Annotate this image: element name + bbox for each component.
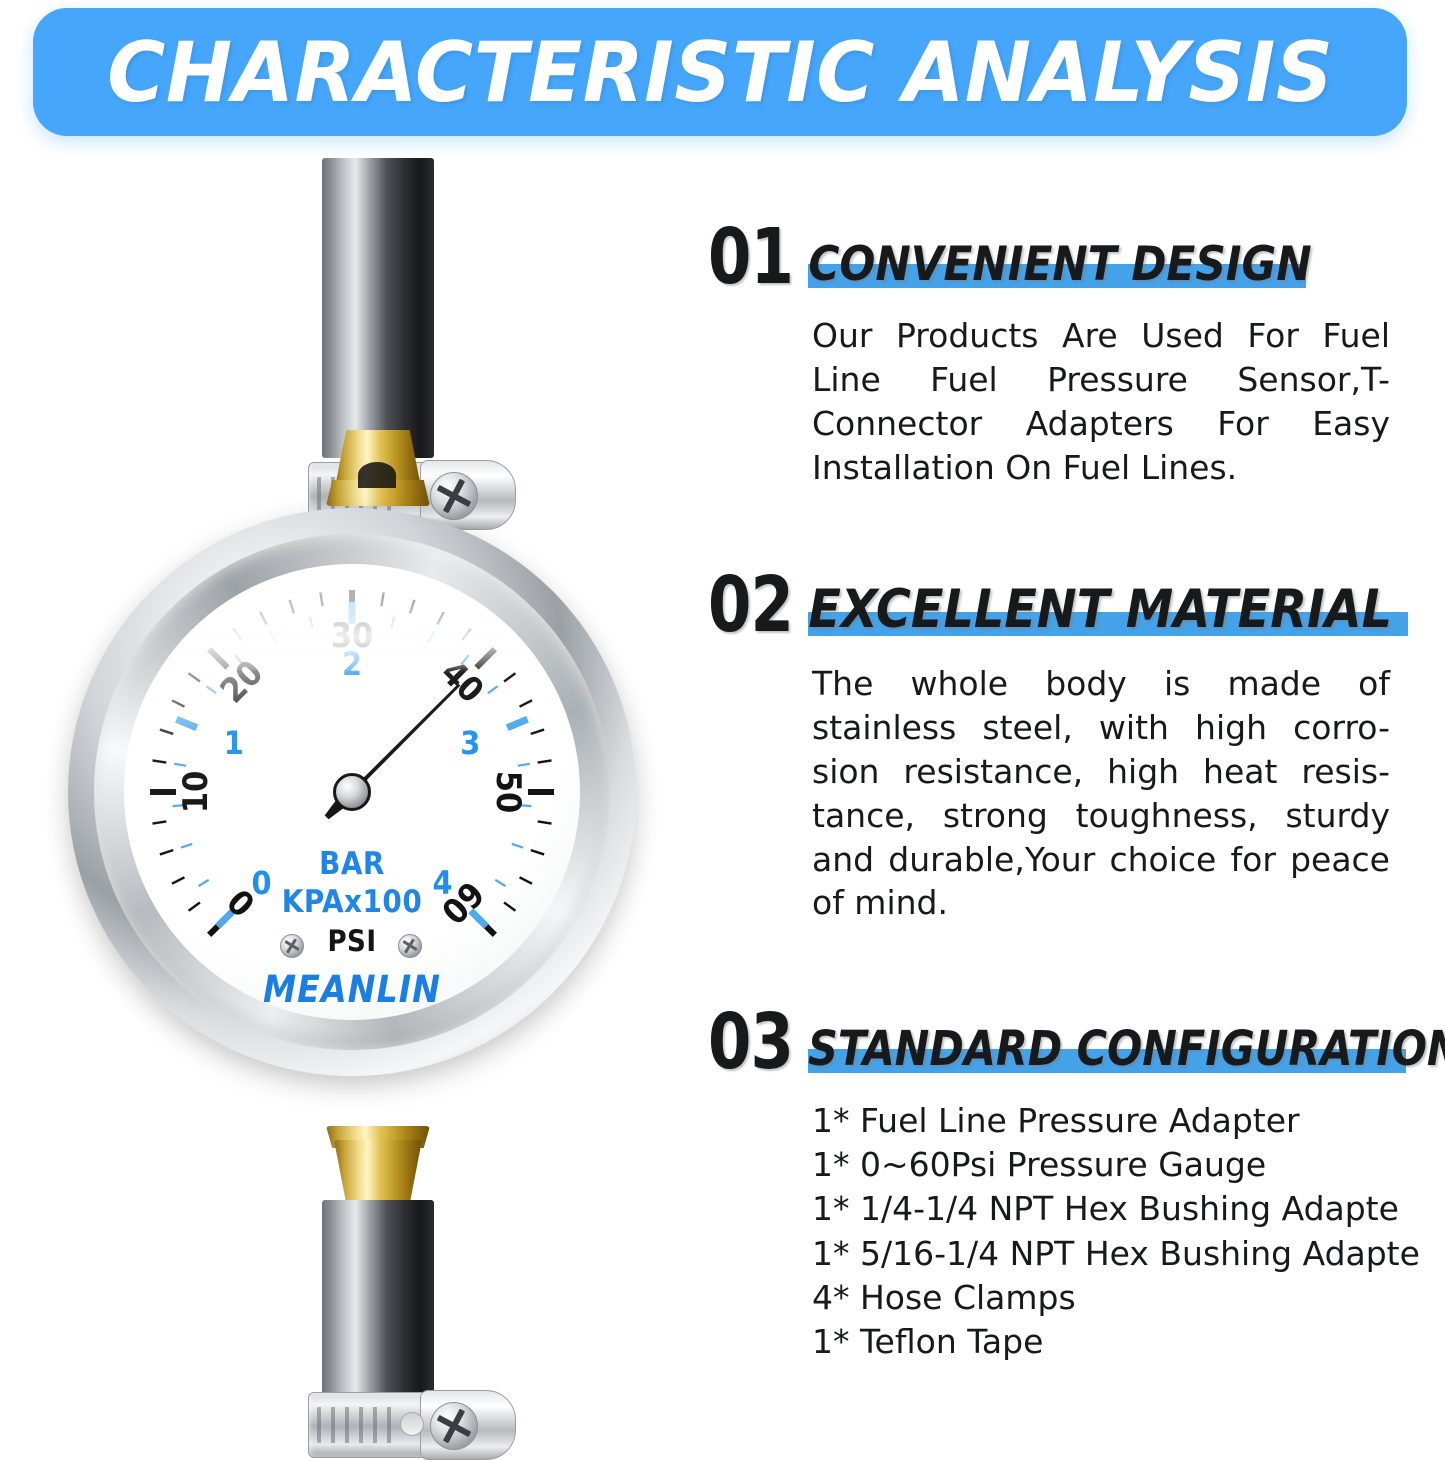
clamp-slots xyxy=(317,1407,395,1443)
gauge-hub xyxy=(333,773,371,811)
brass-fitting-bottom xyxy=(334,1140,422,1204)
gauge-brand-label: MEANLIN xyxy=(124,968,580,1011)
gauge-dial: 010203040506001234 BAR KPAx100 PSI MEANL… xyxy=(124,564,580,1020)
section-number: 03 xyxy=(708,1008,793,1079)
feature-section-02: 02 EXCELLENT MATERIAL The whole body is … xyxy=(708,558,1438,925)
dial-screw-left-icon xyxy=(280,934,304,958)
header-banner: CHARACTERISTIC ANALYSIS xyxy=(33,8,1407,136)
list-item: 1* Teflon Tape xyxy=(812,1320,1443,1364)
feature-section-03: 03 STANDARD CONFIGURATION 1* Fuel Line P… xyxy=(708,995,1443,1364)
section-header: 03 STANDARD CONFIGURATION xyxy=(708,995,1443,1079)
clamp-screw-icon xyxy=(430,1402,478,1450)
product-illustration: 010203040506001234 BAR KPAx100 PSI MEANL… xyxy=(0,140,700,1445)
gauge-unit-psi: PSI xyxy=(124,924,580,958)
section-body-text: The whole body is made of stainless stee… xyxy=(812,662,1390,925)
section-header: 01 CONVENIENT DESIGN xyxy=(708,210,1420,294)
feature-section-01: 01 CONVENIENT DESIGN Our Products Are Us… xyxy=(708,210,1420,490)
gauge-unit-kpa: KPAx100 xyxy=(124,884,580,920)
dial-screw-right-icon xyxy=(398,934,422,958)
configuration-list: 1* Fuel Line Pressure Adapter1* 0~60Psi … xyxy=(812,1099,1443,1364)
list-item: 4* Hose Clamps xyxy=(812,1276,1443,1320)
fuel-hose-top xyxy=(322,158,434,458)
list-item: 1* 0~60Psi Pressure Gauge xyxy=(812,1143,1443,1187)
pressure-gauge: 010203040506001234 BAR KPAx100 PSI MEANL… xyxy=(68,508,636,1076)
section-title-wrap: STANDARD CONFIGURATION xyxy=(808,1021,1445,1079)
page-title: CHARACTERISTIC ANALYSIS xyxy=(107,24,1333,121)
feature-list: 01 CONVENIENT DESIGN Our Products Are Us… xyxy=(700,150,1445,1445)
section-body-text: Our Products Are Used For Fuel Line Fuel… xyxy=(812,314,1390,490)
section-header: 02 EXCELLENT MATERIAL xyxy=(708,558,1438,642)
fitting-port-top xyxy=(358,462,396,488)
section-title-wrap: CONVENIENT DESIGN xyxy=(808,237,1311,294)
section-title: CONVENIENT DESIGN xyxy=(808,237,1311,292)
section-number: 02 xyxy=(708,571,793,642)
clamp-dimple xyxy=(400,1412,424,1436)
section-title: EXCELLENT MATERIAL xyxy=(808,579,1392,640)
section-title: STANDARD CONFIGURATION xyxy=(808,1021,1445,1077)
list-item: 1* 5/16-1/4 NPT Hex Bushing Adapte xyxy=(812,1232,1443,1276)
section-number: 01 xyxy=(708,223,793,294)
section-title-wrap: EXCELLENT MATERIAL xyxy=(808,579,1392,642)
list-item: 1* Fuel Line Pressure Adapter xyxy=(812,1099,1443,1143)
gauge-unit-bar: BAR xyxy=(124,846,580,882)
list-item: 1* 1/4-1/4 NPT Hex Bushing Adapte xyxy=(812,1187,1443,1231)
